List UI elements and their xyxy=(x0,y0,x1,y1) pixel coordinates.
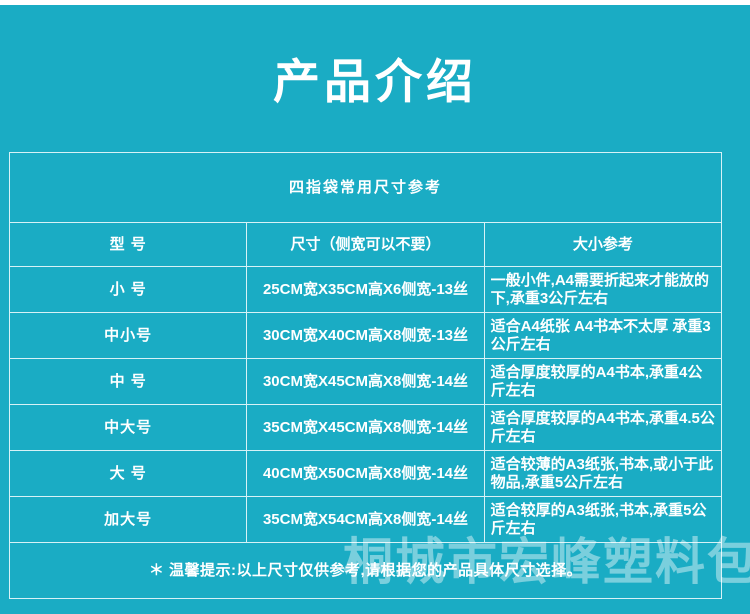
cell-size: 30CM宽X45CM高X8侧宽-14丝 xyxy=(247,359,484,405)
cell-model: 加大号 xyxy=(10,497,247,543)
table-row: 中大号 35CM宽X45CM高X8侧宽-14丝 适合厚度较厚的A4书本,承重4.… xyxy=(10,405,722,451)
size-reference-table: 四指袋常用尺寸参考 型 号 尺寸（侧宽可以不要） 大小参考 小 号 25CM宽X… xyxy=(9,152,722,599)
cell-reference: 适合较厚的A3纸张,书本,承重5公斤左右 xyxy=(484,497,721,543)
cell-size: 35CM宽X54CM高X8侧宽-14丝 xyxy=(247,497,484,543)
cell-size: 25CM宽X35CM高X6侧宽-13丝 xyxy=(247,267,484,313)
column-header-model: 型 号 xyxy=(10,223,247,267)
cell-model: 中 号 xyxy=(10,359,247,405)
column-header-size: 尺寸（侧宽可以不要） xyxy=(247,223,484,267)
page-title: 产品介绍 xyxy=(0,58,750,105)
table-footnote-row: ＊ 温馨提示:以上尺寸仅供参考,请根据您的产品具体尺寸选择。 xyxy=(10,543,722,599)
cell-model: 中小号 xyxy=(10,313,247,359)
cell-size: 30CM宽X40CM高X8侧宽-13丝 xyxy=(247,313,484,359)
cell-size: 35CM宽X45CM高X8侧宽-14丝 xyxy=(247,405,484,451)
cell-reference: 适合较薄的A3纸张,书本,或小于此物品,承重5公斤左右 xyxy=(484,451,721,497)
cell-model: 中大号 xyxy=(10,405,247,451)
column-header-reference: 大小参考 xyxy=(484,223,721,267)
table-caption: 四指袋常用尺寸参考 xyxy=(10,153,722,223)
table-caption-row: 四指袋常用尺寸参考 xyxy=(10,153,722,223)
table-row: 中 号 30CM宽X45CM高X8侧宽-14丝 适合厚度较厚的A4书本,承重4公… xyxy=(10,359,722,405)
cell-reference: 适合厚度较厚的A4书本,承重4.5公斤左右 xyxy=(484,405,721,451)
cell-model: 小 号 xyxy=(10,267,247,313)
table-row: 大 号 40CM宽X50CM高X8侧宽-14丝 适合较薄的A3纸张,书本,或小于… xyxy=(10,451,722,497)
table-row: 中小号 30CM宽X40CM高X8侧宽-13丝 适合A4纸张 A4书本不太厚 承… xyxy=(10,313,722,359)
cell-reference: 适合A4纸张 A4书本不太厚 承重3公斤左右 xyxy=(484,313,721,359)
table-row: 小 号 25CM宽X35CM高X6侧宽-13丝 一般小件,A4需要折起来才能放的… xyxy=(10,267,722,313)
cell-model: 大 号 xyxy=(10,451,247,497)
cell-reference: 适合厚度较厚的A4书本,承重4公斤左右 xyxy=(484,359,721,405)
table-header-row: 型 号 尺寸（侧宽可以不要） 大小参考 xyxy=(10,223,722,267)
cell-reference: 一般小件,A4需要折起来才能放的下,承重3公斤左右 xyxy=(484,267,721,313)
cell-size: 40CM宽X50CM高X8侧宽-14丝 xyxy=(247,451,484,497)
product-introduction-banner: 产品介绍 四指袋常用尺寸参考 型 号 尺寸（侧宽可以不要） 大小参考 小 号 2… xyxy=(0,0,750,614)
table-row: 加大号 35CM宽X54CM高X8侧宽-14丝 适合较厚的A3纸张,书本,承重5… xyxy=(10,497,722,543)
table-footnote: ＊ 温馨提示:以上尺寸仅供参考,请根据您的产品具体尺寸选择。 xyxy=(10,543,722,599)
